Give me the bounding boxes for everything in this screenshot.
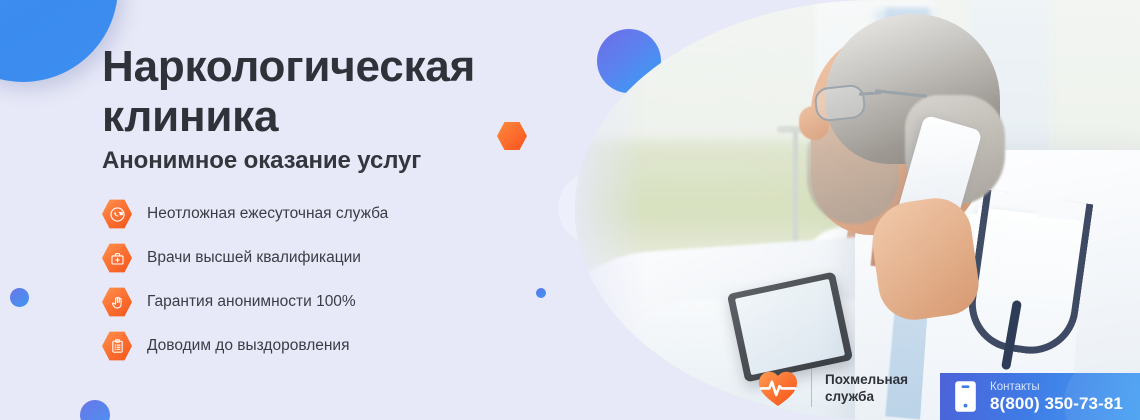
logo-text: Похмельная служба xyxy=(825,371,908,405)
hero-content: Наркологическая клиника Анонимное оказан… xyxy=(102,0,572,420)
list-item-label: Врачи высшей квалификации xyxy=(147,249,361,267)
list-item: Врачи высшей квалификации xyxy=(102,236,388,280)
decorative-circle-large xyxy=(0,0,118,82)
list-item-label: Доводим до выздоровления xyxy=(147,337,349,355)
decorative-dot-left xyxy=(10,288,29,307)
brand-logo[interactable]: Похмельная служба xyxy=(757,368,908,408)
mobile-phone-icon xyxy=(954,380,977,413)
feature-list: Неотложная ежесуточная служба Врачи высш… xyxy=(102,192,388,368)
clipboard-checklist-icon xyxy=(102,331,132,361)
stop-hand-icon xyxy=(102,287,132,317)
logo-text-line2: служба xyxy=(825,389,874,404)
list-item: Доводим до выздоровления xyxy=(102,324,388,368)
hero-photo xyxy=(575,0,1140,420)
logo-text-line1: Похмельная xyxy=(825,372,908,387)
promo-banner: Наркологическая клиника Анонимное оказан… xyxy=(0,0,1140,420)
logo-divider xyxy=(811,369,812,407)
heart-pulse-icon xyxy=(757,368,799,408)
page-subtitle: Анонимное оказание услуг xyxy=(102,146,421,176)
contacts-label: Контакты xyxy=(990,380,1123,394)
contacts-block[interactable]: Контакты 8(800) 350-73-81 xyxy=(940,373,1140,420)
medical-kit-icon xyxy=(102,243,132,273)
phone-24h-icon xyxy=(102,199,132,229)
list-item: Гарантия анонимности 100% xyxy=(102,280,388,324)
contacts-phone-number[interactable]: 8(800) 350-73-81 xyxy=(990,394,1123,414)
contacts-text: Контакты 8(800) 350-73-81 xyxy=(990,380,1123,414)
page-title: Наркологическая клиника xyxy=(102,42,532,142)
list-item: Неотложная ежесуточная служба xyxy=(102,192,388,236)
list-item-label: Гарантия анонимности 100% xyxy=(147,293,356,311)
list-item-label: Неотложная ежесуточная служба xyxy=(147,205,388,223)
